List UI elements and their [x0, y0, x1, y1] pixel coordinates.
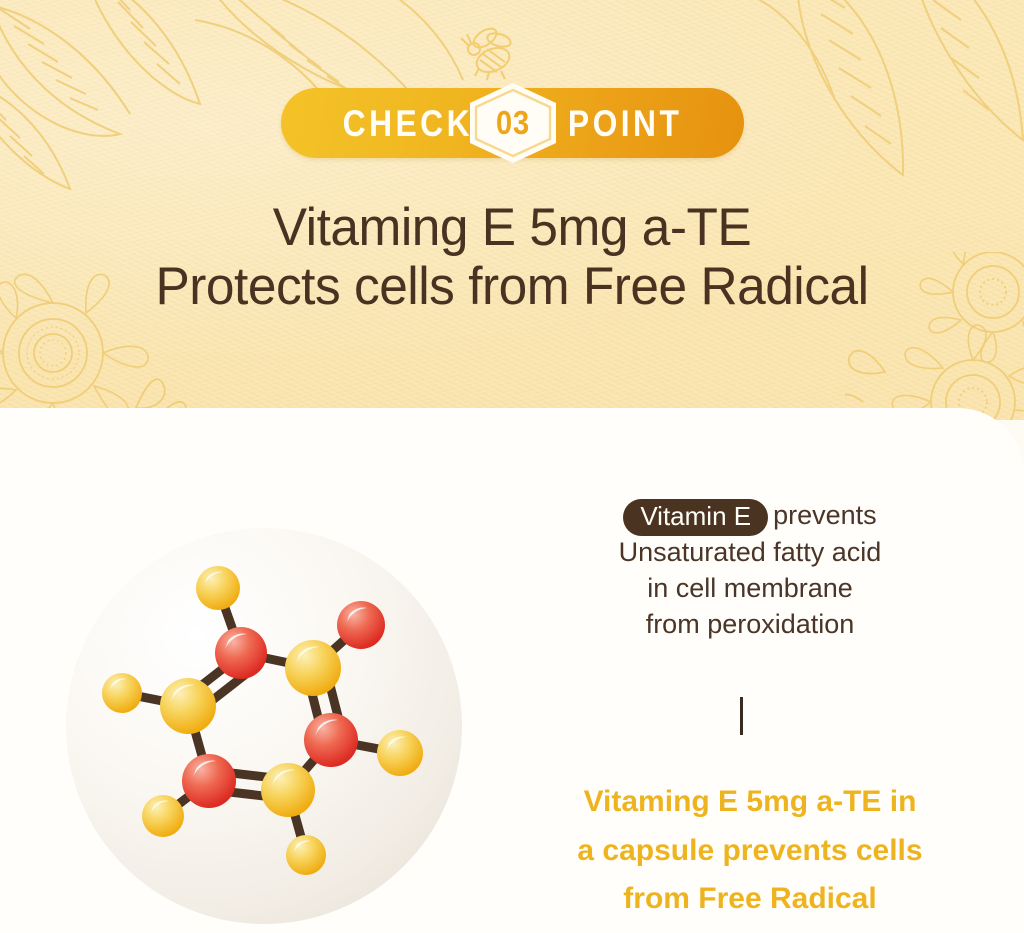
hero-section: CHECK POINT 03 Vitaming E 5mg a-TE Prote…	[0, 0, 1024, 420]
check-point-badge[interactable]: CHECK POINT 03	[281, 88, 744, 158]
bee-line-art	[455, 24, 525, 82]
badge-left-word: CHECK	[343, 105, 473, 142]
atom-yellow	[196, 566, 240, 610]
highlight-line-2: a capsule prevents cells	[500, 827, 1000, 876]
atom-yellow	[102, 673, 142, 713]
headline-line-1: Vitaming E 5mg a-TE	[15, 198, 1008, 257]
leaf-line-art-left	[0, 0, 250, 194]
highlight-block: Vitaming E 5mg a-TE in a capsule prevent…	[500, 778, 1000, 924]
atom-yellow	[160, 678, 216, 734]
atom-yellow	[377, 730, 423, 776]
atoms	[102, 566, 423, 875]
vitamin-e-pill: Vitamin E	[623, 499, 768, 536]
description-line-1: Vitamin Eprevents	[520, 498, 980, 535]
description-line-1-text: prevents	[773, 500, 877, 530]
atom-red	[337, 601, 385, 649]
badge-number: 03	[471, 81, 554, 165]
molecule-diagram-icon	[66, 528, 462, 924]
atom-red	[215, 627, 267, 679]
atom-yellow	[286, 835, 326, 875]
atom-yellow	[261, 763, 315, 817]
hexagon-number-emblem: 03	[466, 81, 560, 165]
infographic-page: CHECK POINT 03 Vitaming E 5mg a-TE Prote…	[0, 0, 1024, 933]
description-block: Vitamin Eprevents Unsaturated fatty acid…	[520, 498, 980, 643]
page-title: Vitaming E 5mg a-TE Protects cells from …	[0, 198, 1024, 317]
description-line-4: from peroxidation	[520, 607, 980, 643]
leaf-line-art-right	[735, 0, 1024, 190]
atom-red	[304, 713, 358, 767]
badge-right-word: POINT	[568, 105, 682, 142]
description-line-3: in cell membrane	[520, 571, 980, 607]
highlight-line-3: from Free Radical	[500, 875, 1000, 924]
description-line-2: Unsaturated fatty acid	[520, 535, 980, 571]
highlight-line-1: Vitaming E 5mg a-TE in	[500, 778, 1000, 827]
headline-line-2: Protects cells from Free Radical	[15, 257, 1008, 316]
atom-red	[182, 754, 236, 808]
atom-yellow	[285, 640, 341, 696]
vertical-divider	[740, 697, 743, 735]
atom-yellow	[142, 795, 184, 837]
molecule-illustration	[66, 528, 462, 924]
